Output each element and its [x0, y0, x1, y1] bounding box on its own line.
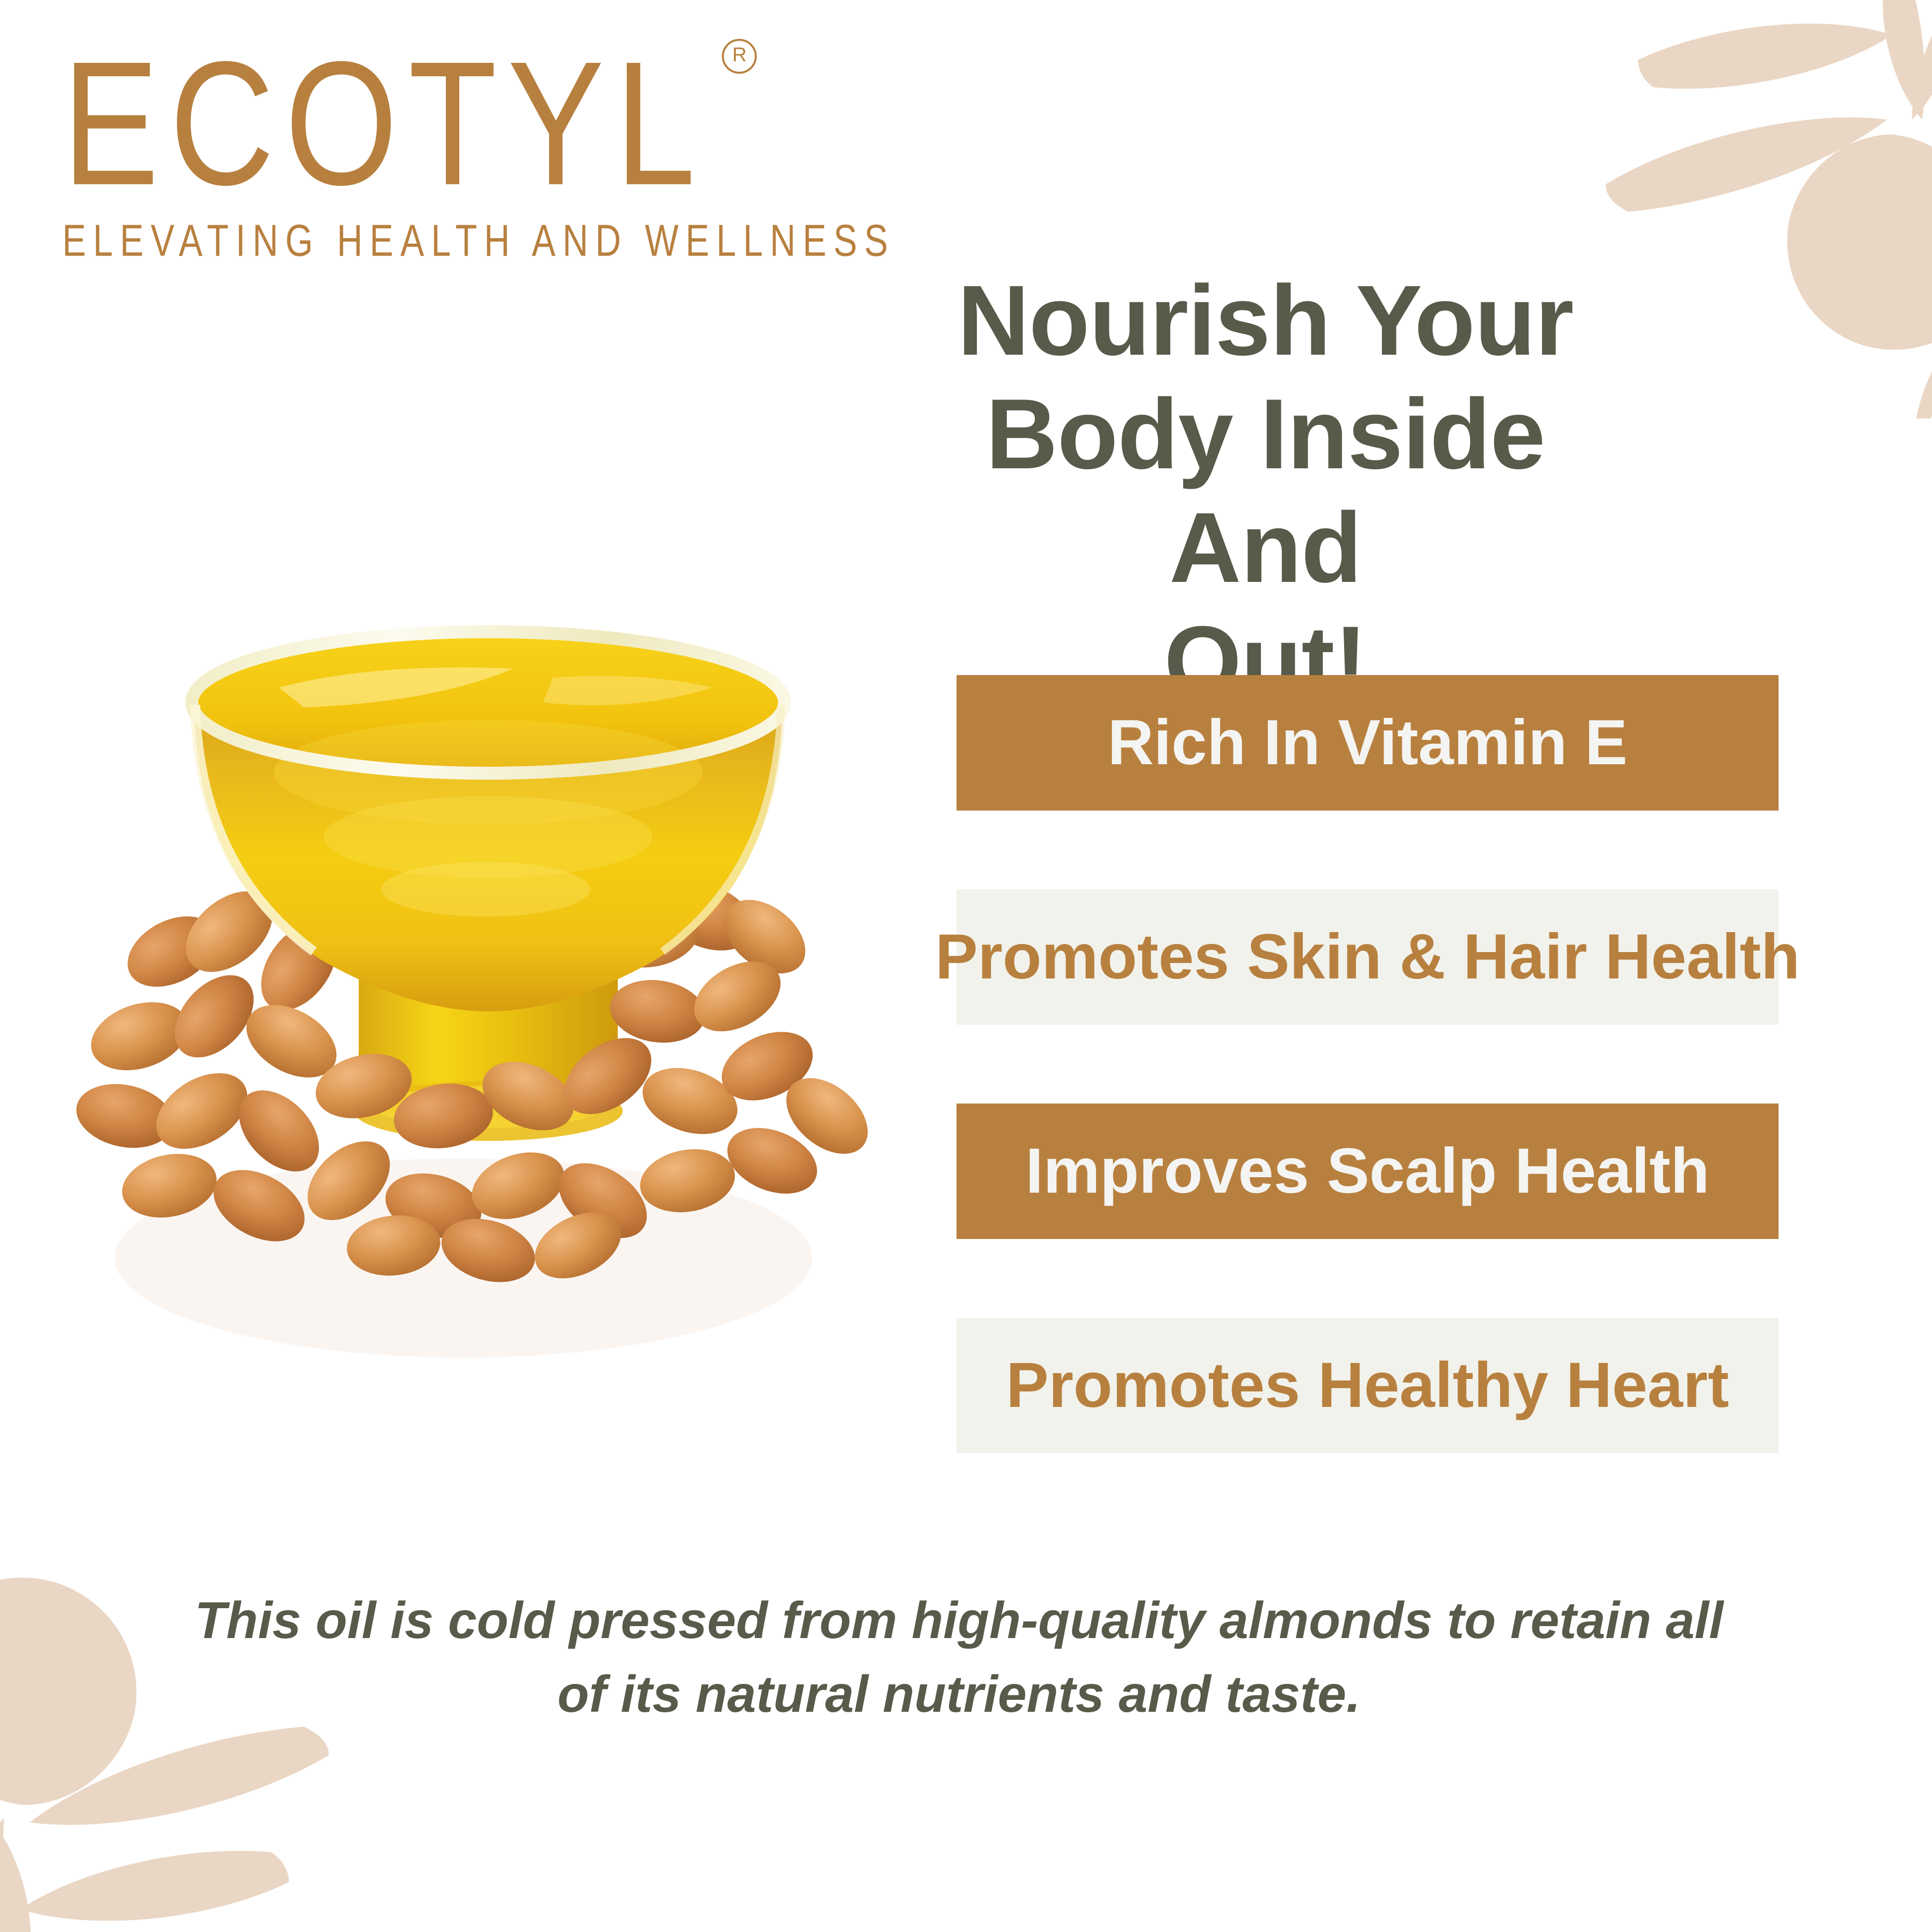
- benefit-label: Promotes Healthy Heart: [1006, 1354, 1729, 1417]
- product-caption: This oil is cold pressed from high-quali…: [164, 1584, 1754, 1731]
- benefits-list: Rich In Vitamin E Promotes Skin & Hair H…: [957, 675, 1779, 1453]
- brand-logo: ECOTYL R ELEVATING HEALTH AND WELLNESS: [62, 35, 770, 259]
- benefit-bar-promotes-skin-hair-health: Promotes Skin & Hair Health: [957, 889, 1779, 1025]
- benefit-bar-improves-scalp-health: Improves Scalp Health: [957, 1104, 1779, 1239]
- benefit-label: Improves Scalp Health: [1026, 1139, 1710, 1203]
- benefit-bar-promotes-healthy-heart: Promotes Healthy Heart: [957, 1318, 1779, 1453]
- benefit-label: Promotes Skin & Hair Health: [935, 925, 1800, 989]
- benefit-bar-rich-in-vitamin-e: Rich In Vitamin E: [957, 675, 1779, 811]
- headline: Nourish Your Body Inside And Out!: [887, 264, 1644, 718]
- logo-wordmark: ECOTYL: [62, 35, 706, 211]
- headline-line-1: Nourish Your: [887, 264, 1644, 378]
- headline-line-2: Body Inside And: [887, 378, 1644, 605]
- poster-canvas: ECOTYL R ELEVATING HEALTH AND WELLNESS N…: [0, 0, 1932, 1932]
- registered-trademark-icon: R: [722, 39, 757, 74]
- benefit-label: Rich In Vitamin E: [1107, 711, 1627, 775]
- logo-tagline: ELEVATING HEALTH AND WELLNESS: [62, 215, 727, 267]
- logo-wordmark-row: ECOTYL R: [62, 35, 726, 184]
- product-image-almond-oil-bowl: [65, 538, 912, 1395]
